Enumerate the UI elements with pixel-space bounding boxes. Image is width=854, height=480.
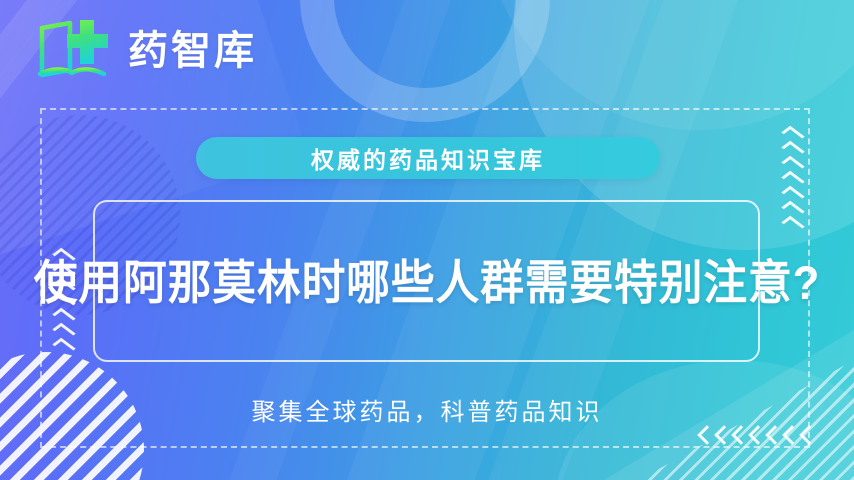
chevron-up-icon: [781, 186, 804, 204]
chevron-up-icon: [52, 263, 75, 281]
brand-name: 药智库: [128, 31, 257, 71]
chevron-up-icon: [781, 156, 804, 174]
chevron-up-icon: [52, 248, 75, 266]
chevron-up-icon: [781, 216, 804, 234]
top-right-arc-outer: [484, 0, 854, 130]
chevron-up-icon: [52, 293, 75, 311]
chevron-left-group-bottom: [700, 428, 816, 442]
chevron-up-group-right: [784, 128, 802, 231]
top-ring-shape: [300, 0, 550, 122]
chevron-up-icon: [781, 201, 804, 219]
book-cross-icon: [36, 18, 114, 84]
chevron-up-icon: [52, 338, 75, 356]
promo-banner: 药智库 权威的药品知识宝库 使用阿那莫林时哪些人群需要特别注意? 聚集全球药品，…: [0, 0, 854, 480]
chevron-up-icon: [781, 171, 804, 189]
chevron-up-icon: [781, 126, 804, 144]
chevron-up-icon: [781, 141, 804, 159]
chevron-up-group-left: [55, 250, 73, 353]
tagline: 聚集全球药品，科普药品知识: [0, 392, 854, 427]
status-badge: 权威的药品知识宝库: [196, 137, 660, 179]
chevron-up-icon: [52, 308, 75, 326]
brand-logo: 药智库: [36, 18, 257, 84]
chevron-up-icon: [52, 278, 75, 296]
badge-label: 权威的药品知识宝库: [311, 141, 545, 175]
page-title: 使用阿那莫林时哪些人群需要特别注意?: [30, 244, 824, 313]
chevron-up-icon: [52, 323, 75, 341]
chevron-left-icon: [799, 425, 819, 445]
